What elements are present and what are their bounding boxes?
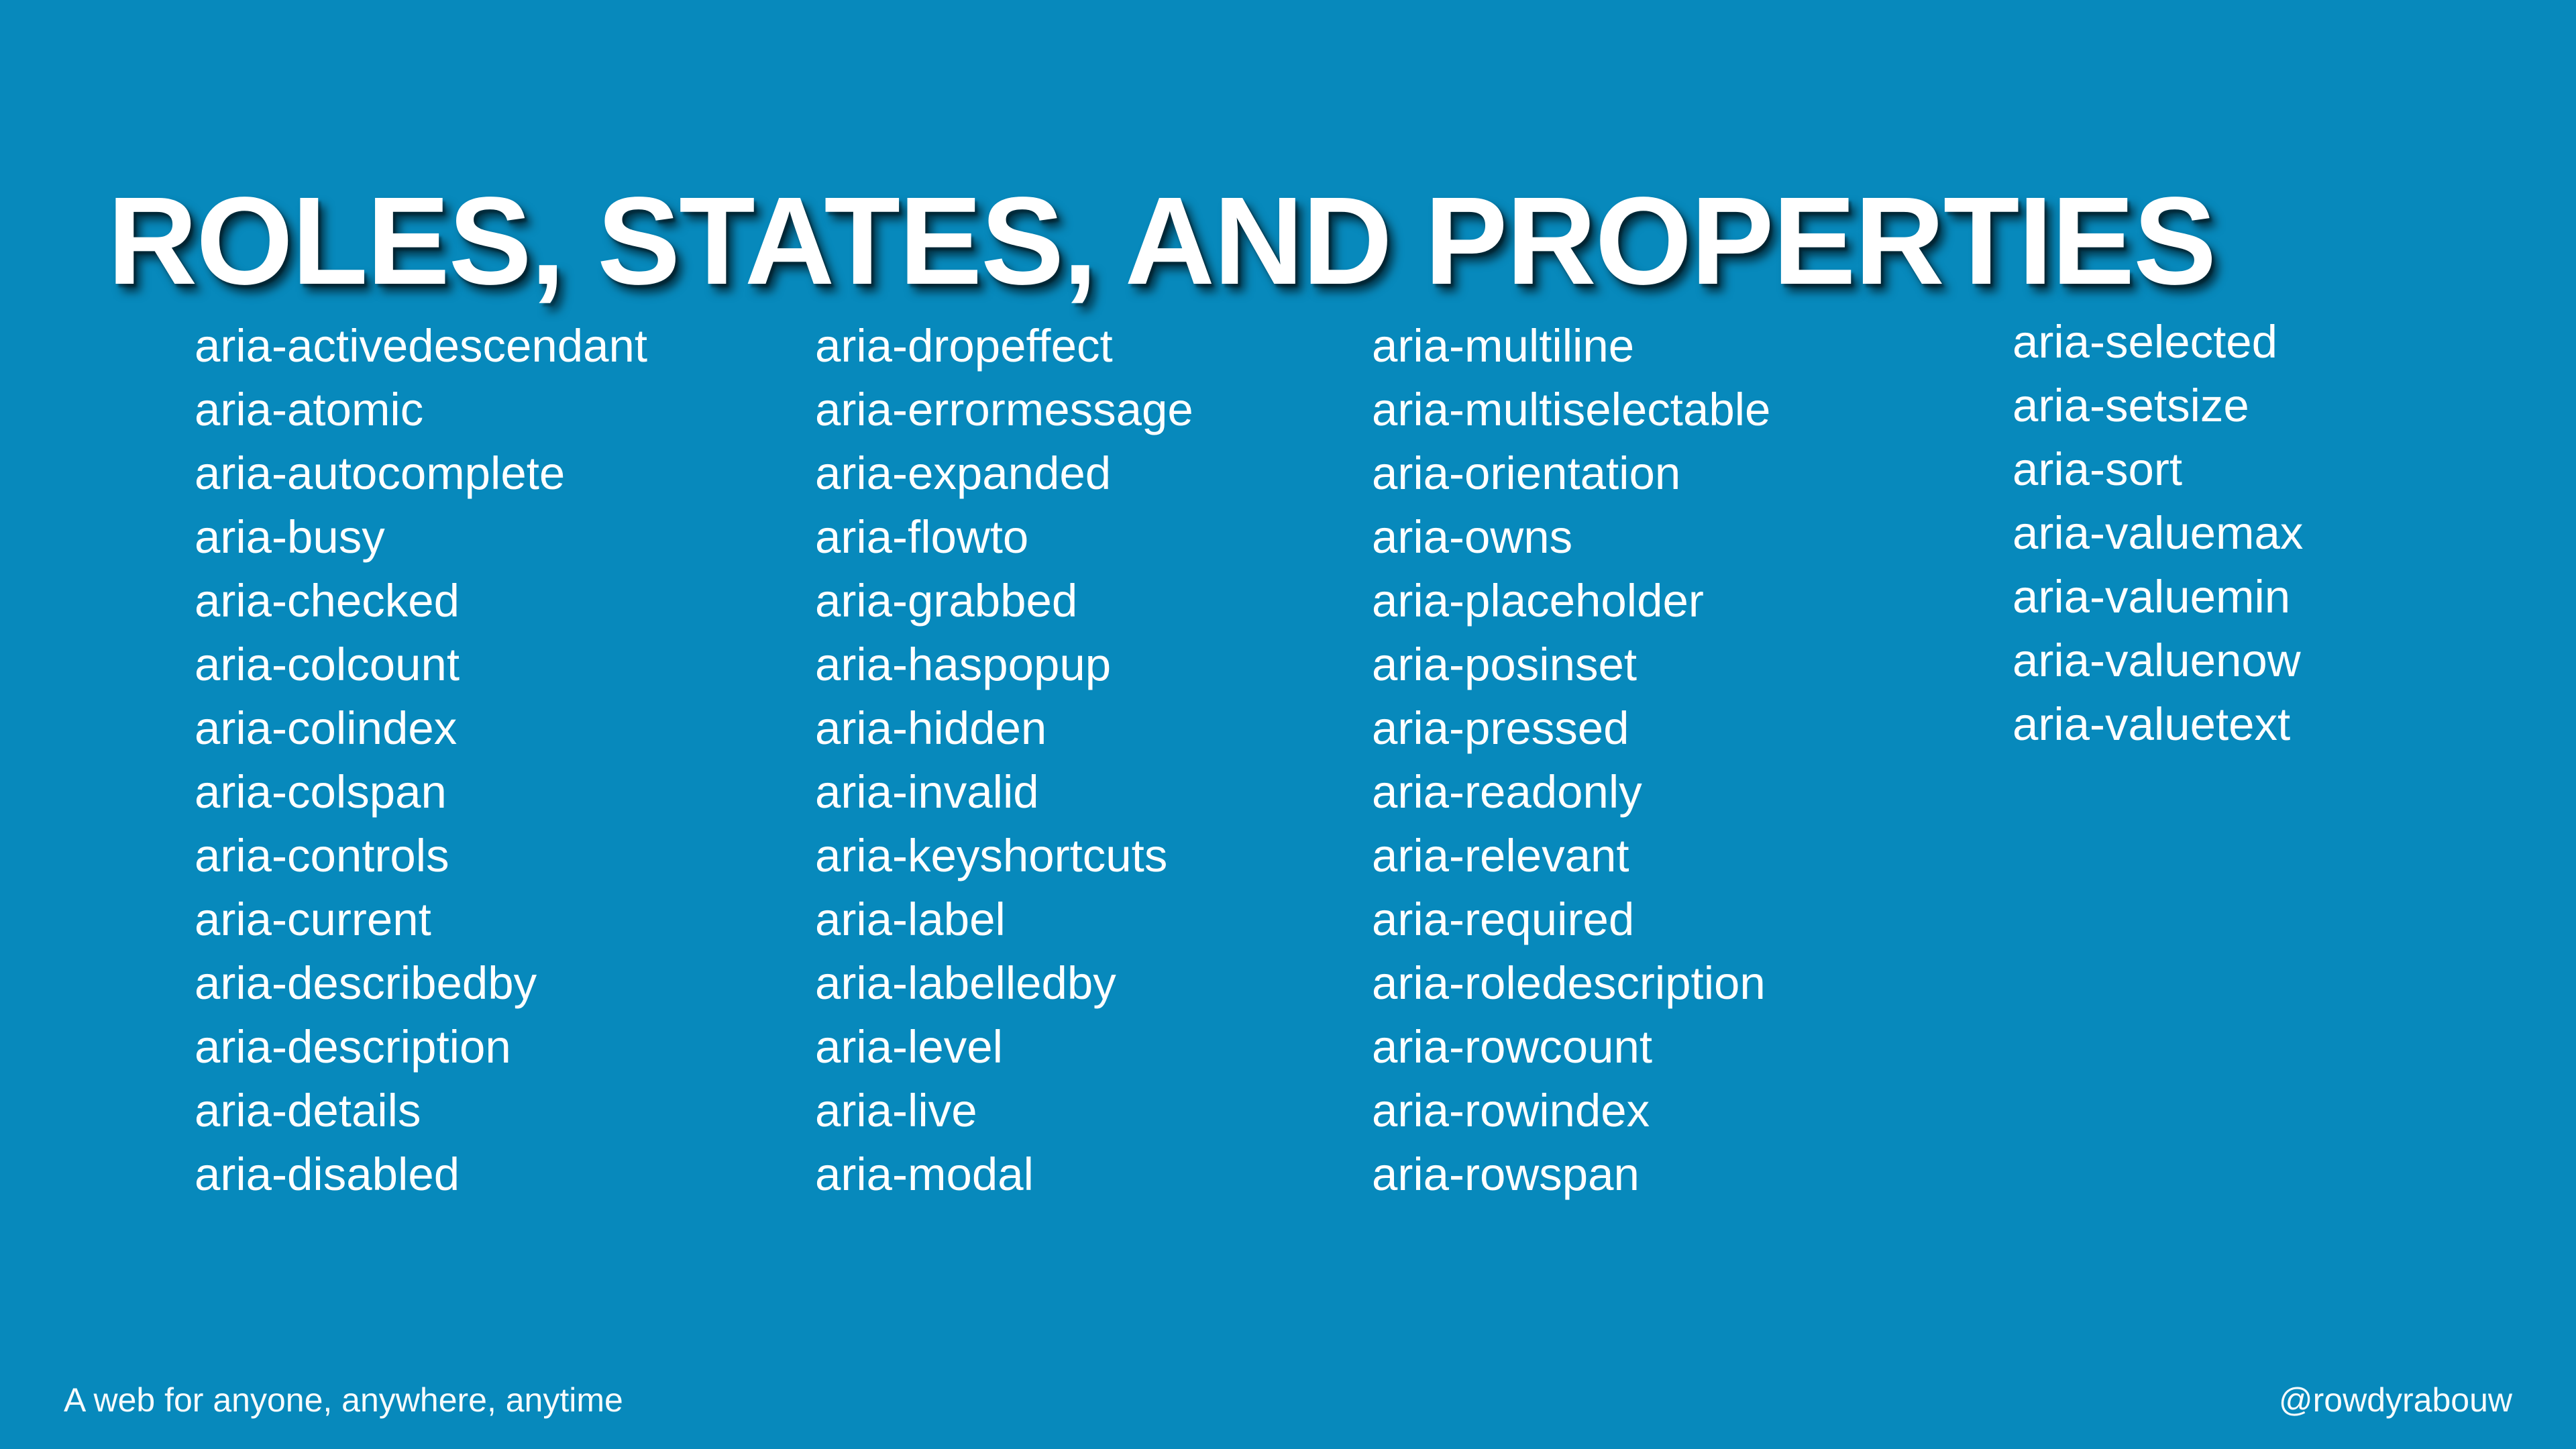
aria-attribute-item: aria-expanded bbox=[815, 441, 1193, 505]
aria-attribute-item: aria-orientation bbox=[1372, 441, 1770, 505]
aria-attribute-item: aria-multiselectable bbox=[1372, 378, 1770, 441]
aria-attribute-item: aria-pressed bbox=[1372, 696, 1770, 760]
aria-attribute-item: aria-setsize bbox=[2012, 374, 2303, 437]
aria-attribute-item: aria-flowto bbox=[815, 505, 1193, 569]
aria-attribute-item: aria-valuemax bbox=[2012, 501, 2303, 565]
aria-attribute-item: aria-disabled bbox=[195, 1142, 647, 1206]
aria-attribute-item: aria-rowcount bbox=[1372, 1015, 1770, 1079]
aria-attribute-item: aria-description bbox=[195, 1015, 647, 1079]
footer-handle: @rowdyrabouw bbox=[2279, 1383, 2512, 1417]
aria-attribute-item: aria-multiline bbox=[1372, 314, 1770, 378]
footer-tagline: A web for anyone, anywhere, anytime bbox=[64, 1383, 623, 1417]
aria-attribute-item: aria-autocomplete bbox=[195, 441, 647, 505]
aria-attribute-item: aria-dropeffect bbox=[815, 314, 1193, 378]
aria-attribute-item: aria-live bbox=[815, 1079, 1193, 1142]
aria-attribute-item: aria-rowspan bbox=[1372, 1142, 1770, 1206]
aria-attribute-item: aria-posinset bbox=[1372, 633, 1770, 696]
aria-attribute-item: aria-grabbed bbox=[815, 569, 1193, 633]
aria-attribute-item: aria-labelledby bbox=[815, 951, 1193, 1015]
slide-footer: A web for anyone, anywhere, anytime @row… bbox=[0, 1335, 2576, 1449]
aria-attribute-item: aria-hidden bbox=[815, 696, 1193, 760]
aria-attribute-item: aria-atomic bbox=[195, 378, 647, 441]
aria-attribute-item: aria-rowindex bbox=[1372, 1079, 1770, 1142]
aria-attribute-item: aria-roledescription bbox=[1372, 951, 1770, 1015]
aria-attribute-item: aria-sort bbox=[2012, 437, 2303, 501]
aria-attribute-item: aria-colindex bbox=[195, 696, 647, 760]
aria-attribute-item: aria-activedescendant bbox=[195, 314, 647, 378]
aria-attribute-item: aria-colspan bbox=[195, 760, 647, 824]
aria-attribute-item: aria-colcount bbox=[195, 633, 647, 696]
aria-attribute-item: aria-valuenow bbox=[2012, 629, 2303, 692]
aria-attribute-item: aria-relevant bbox=[1372, 824, 1770, 888]
aria-attribute-item: aria-busy bbox=[195, 505, 647, 569]
presentation-slide: ROLES, STATES, AND PROPERTIES aria-activ… bbox=[0, 0, 2576, 1449]
aria-attribute-item: aria-invalid bbox=[815, 760, 1193, 824]
aria-attribute-column-1: aria-activedescendantaria-atomicaria-aut… bbox=[195, 314, 647, 1206]
aria-attribute-item: aria-valuetext bbox=[2012, 692, 2303, 756]
aria-attribute-item: aria-controls bbox=[195, 824, 647, 888]
aria-attribute-item: aria-level bbox=[815, 1015, 1193, 1079]
aria-attribute-item: aria-modal bbox=[815, 1142, 1193, 1206]
aria-attribute-item: aria-label bbox=[815, 888, 1193, 951]
aria-attribute-item: aria-checked bbox=[195, 569, 647, 633]
aria-attribute-item: aria-required bbox=[1372, 888, 1770, 951]
aria-attribute-item: aria-readonly bbox=[1372, 760, 1770, 824]
aria-attribute-item: aria-errormessage bbox=[815, 378, 1193, 441]
aria-attribute-item: aria-valuemin bbox=[2012, 565, 2303, 629]
aria-attribute-column-4: aria-selectedaria-setsizearia-sortaria-v… bbox=[2012, 310, 2303, 756]
aria-attribute-item: aria-current bbox=[195, 888, 647, 951]
aria-attribute-item: aria-details bbox=[195, 1079, 647, 1142]
aria-attribute-item: aria-placeholder bbox=[1372, 569, 1770, 633]
aria-attribute-column-3: aria-multilinearia-multiselectablearia-o… bbox=[1372, 314, 1770, 1206]
aria-attribute-item: aria-describedby bbox=[195, 951, 647, 1015]
aria-attribute-item: aria-keyshortcuts bbox=[815, 824, 1193, 888]
aria-attribute-item: aria-selected bbox=[2012, 310, 2303, 374]
aria-attribute-item: aria-haspopup bbox=[815, 633, 1193, 696]
aria-attribute-column-2: aria-dropeffectaria-errormessagearia-exp… bbox=[815, 314, 1193, 1206]
aria-attribute-item: aria-owns bbox=[1372, 505, 1770, 569]
aria-attribute-list: aria-activedescendantaria-atomicaria-aut… bbox=[0, 0, 2576, 1449]
